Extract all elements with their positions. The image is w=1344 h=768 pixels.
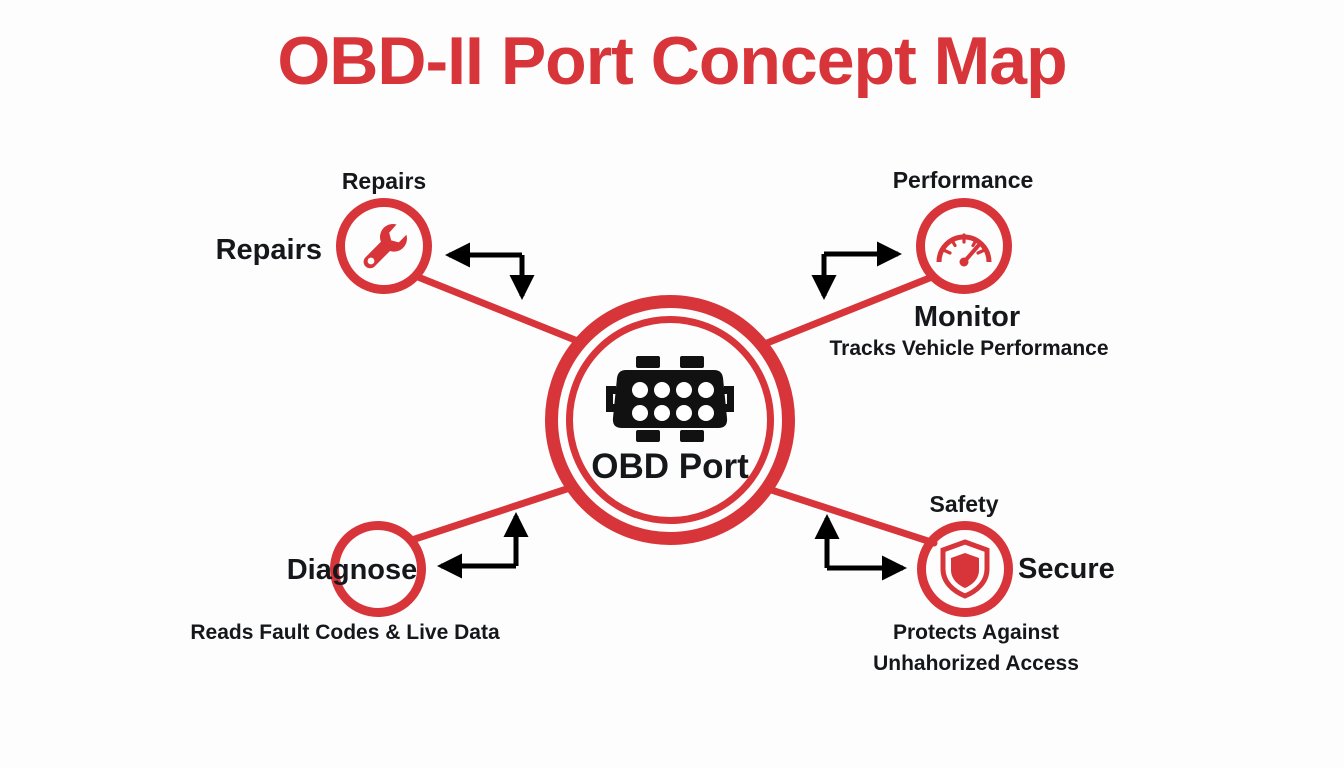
wrench-icon <box>352 214 416 278</box>
node-side-label-monitor: Monitor <box>914 300 1020 334</box>
node-side-label-diagnose: Diagnose <box>287 553 418 587</box>
node-side-label-secure: Secure <box>1018 552 1115 586</box>
page-title: OBD-II Port Concept Map <box>0 22 1344 100</box>
node-subtitle-diagnose: Reads Fault Codes & Live Data <box>190 621 499 646</box>
hub-label: OBD Port <box>591 446 749 487</box>
node-subtitle-monitor: Tracks Vehicle Performance <box>830 337 1109 362</box>
node-top-label-repairs: Repairs <box>342 168 426 195</box>
node-side-label-repairs: Repairs <box>216 233 322 267</box>
concept-map-canvas: OBD-II Port Concept Map <box>0 0 1344 768</box>
obd-connector-icon <box>600 356 740 442</box>
node-subtitle-secure-line2: Unhahorized Access <box>873 652 1079 677</box>
node-top-label-monitor: Performance <box>893 167 1034 194</box>
node-top-label-secure: Safety <box>929 491 998 518</box>
gauge-icon <box>934 218 994 274</box>
node-subtitle-secure-line1: Protects Against <box>893 621 1059 646</box>
shield-icon <box>939 539 991 599</box>
